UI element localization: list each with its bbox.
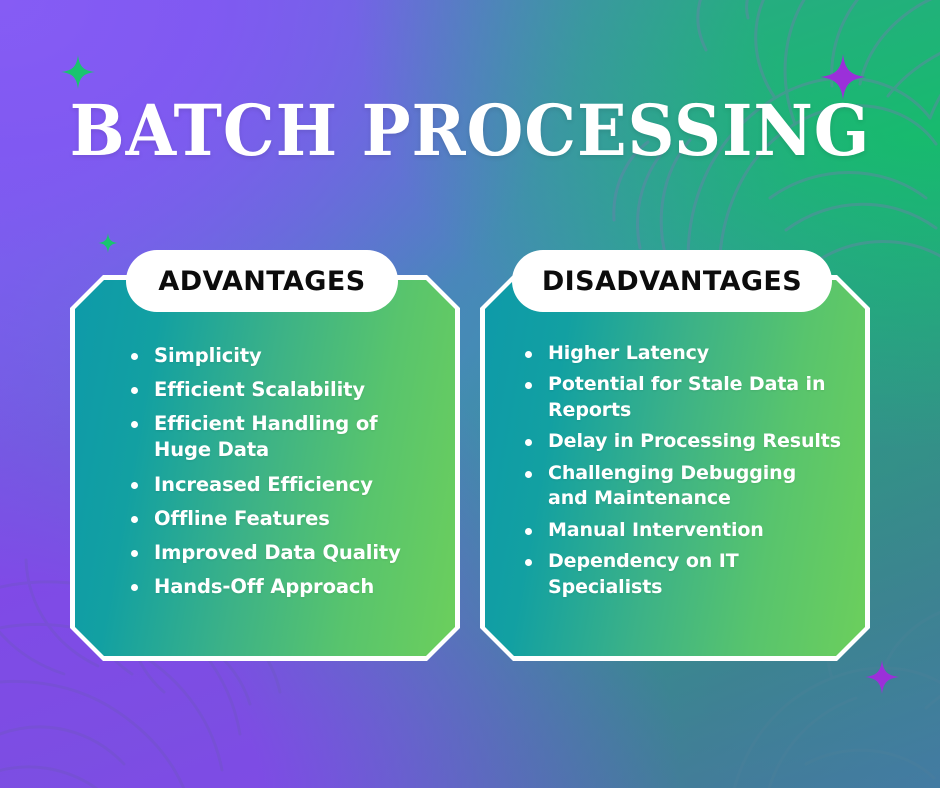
list-item: Challenging Debugging and Maintenance <box>522 461 842 512</box>
list-item: Efficient Scalability <box>128 377 418 403</box>
disadvantages-heading-label: DISADVANTAGES <box>542 266 802 297</box>
list-item: Higher Latency <box>522 341 842 366</box>
poster-title: BATCH PROCESSING <box>33 96 907 166</box>
disadvantages-list: Higher Latency Potential for Stale Data … <box>522 341 842 606</box>
list-item: Hands-Off Approach <box>128 574 418 600</box>
advantages-heading-label: ADVANTAGES <box>158 266 365 297</box>
list-item: Increased Efficiency <box>128 472 418 498</box>
advantages-list: Simplicity Efficient Scalability Efficie… <box>128 343 418 608</box>
list-item: Delay in Processing Results <box>522 429 842 454</box>
list-item: Dependency on IT Specialists <box>522 549 842 600</box>
list-item: Manual Intervention <box>522 518 842 543</box>
list-item: Offline Features <box>128 506 418 532</box>
advantages-heading-pill: ADVANTAGES <box>126 250 398 312</box>
list-item: Potential for Stale Data in Reports <box>522 372 842 423</box>
list-item: Efficient Handling of Huge Data <box>128 411 418 463</box>
list-item: Simplicity <box>128 343 418 369</box>
list-item: Improved Data Quality <box>128 540 418 566</box>
poster-canvas: BATCH PROCESSING Simplicity Efficient Sc… <box>0 0 940 788</box>
disadvantages-heading-pill: DISADVANTAGES <box>512 250 832 312</box>
